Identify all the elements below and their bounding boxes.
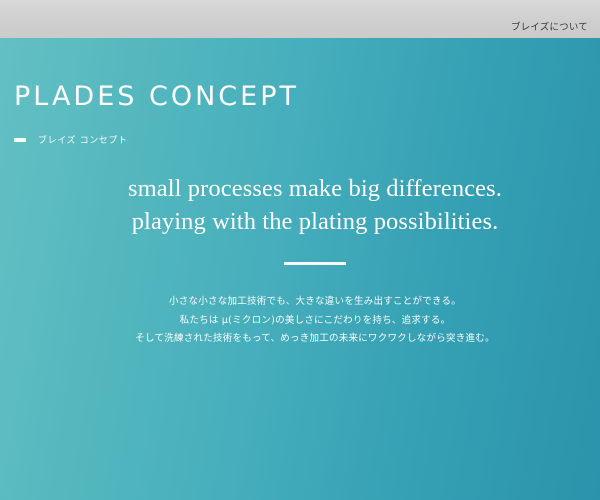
top-header-bar: ブレイズについて <box>0 0 600 38</box>
hero-copy-block: small processes make big differences. pl… <box>0 173 600 349</box>
horizontal-rule-icon <box>284 262 346 265</box>
top-header-nav: ブレイズについて <box>511 0 588 38</box>
nav-link-about-blaze[interactable]: ブレイズについて <box>511 5 588 33</box>
breadcrumb: ブレイズ コンセプト <box>14 133 128 146</box>
hero-subcopy: 小さな小さな加工技術でも、大きな違いを生み出すことができる。 私たちは μ(ミク… <box>0 293 600 349</box>
hero-section: PLADES CONCEPT ブレイズ コンセプト small processe… <box>0 38 600 500</box>
hero-subcopy-line-2: 私たちは μ(ミクロン)の美しさにこだわりを持ち、追求する。 <box>30 312 600 331</box>
hero-headline-line-2: playing with the plating possibilities. <box>30 206 600 239</box>
dash-marker-icon <box>14 138 26 142</box>
divider-wrap <box>0 262 600 265</box>
page-root: ブレイズについて PLADES CONCEPT ブレイズ コンセプト small… <box>0 0 600 500</box>
hero-subcopy-line-1: 小さな小さな加工技術でも、大きな違いを生み出すことができる。 <box>30 293 600 312</box>
hero-subcopy-line-3: そして洗練された技術をもって、めっき加工の未来にワクワクしながら突き進む。 <box>30 330 600 349</box>
hero-headline-line-1: small processes make big differences. <box>30 173 600 206</box>
hero-headline: small processes make big differences. pl… <box>0 173 600 238</box>
page-title: PLADES CONCEPT <box>14 83 299 110</box>
breadcrumb-item-concept[interactable]: ブレイズ コンセプト <box>38 133 128 146</box>
